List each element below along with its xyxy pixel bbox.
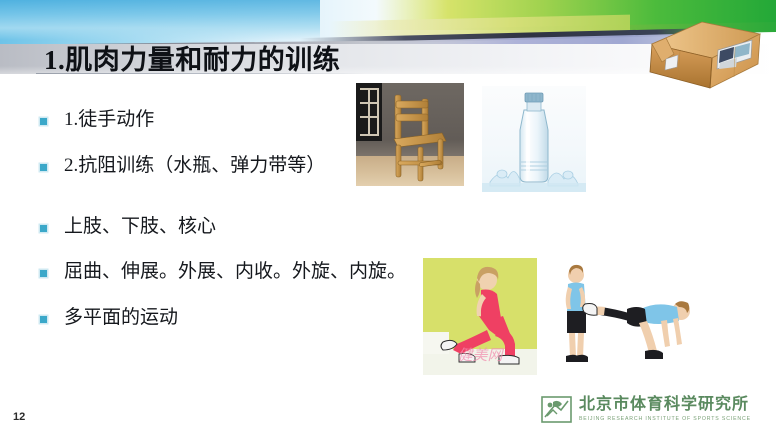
bullet-text: 1.徒手动作 <box>64 108 154 132</box>
list-item[interactable]: 上肢、下肢、核心 <box>40 215 440 239</box>
wooden-chair-photo <box>356 83 464 186</box>
slide-canvas: 1.肌肉力量和耐力的训练 1.徒手动作 2.抗阻训练（水瓶、弹力带等） 上肢、下… <box>0 0 776 437</box>
single-leg-deadlift-photo <box>549 257 721 372</box>
bullet-text: 屈曲、伸展。外展、内收。外旋、内旋。 <box>64 260 406 284</box>
bullet-marker-icon <box>40 225 47 232</box>
bullet-text: 上肢、下肢、核心 <box>64 215 216 239</box>
bullet-marker-icon <box>40 164 47 171</box>
cardboard-box-graphic <box>640 18 762 90</box>
title-underline <box>36 73 366 74</box>
bullet-marker-icon <box>40 316 47 323</box>
list-item[interactable]: 屈曲、伸展。外展、内收。外旋、内旋。 <box>40 260 440 284</box>
header-blue-core <box>0 0 320 40</box>
bullet-group-2: 上肢、下肢、核心 屈曲、伸展。外展、内收。外旋、内旋。 多平面的运动 <box>40 215 440 330</box>
institute-logo-text: 北京市体育科学研究所 BEIJING RESEARCH INSTITUTE OF… <box>579 397 751 422</box>
bullet-marker-icon <box>40 118 47 125</box>
water-bottle-photo <box>482 86 586 192</box>
page-number: 12 <box>13 411 25 423</box>
institute-logo: 北京市体育科学研究所 BEIJING RESEARCH INSTITUTE OF… <box>541 396 751 423</box>
slide-title: 1.肌肉力量和耐力的训练 <box>44 38 340 77</box>
lunge-exercise-photo: 健美网 <box>423 258 537 375</box>
bullet-text: 2.抗阻训练（水瓶、弹力带等） <box>64 154 325 178</box>
institute-name-cn: 北京市体育科学研究所 <box>579 397 751 414</box>
svg-text:健美网: 健美网 <box>457 347 504 364</box>
list-item[interactable]: 多平面的运动 <box>40 306 440 330</box>
bullet-text: 多平面的运动 <box>64 306 178 330</box>
institute-logo-icon <box>541 396 572 423</box>
bullet-marker-icon <box>40 270 47 277</box>
institute-name-en: BEIJING RESEARCH INSTITUTE OF SPORTS SCI… <box>579 416 751 422</box>
